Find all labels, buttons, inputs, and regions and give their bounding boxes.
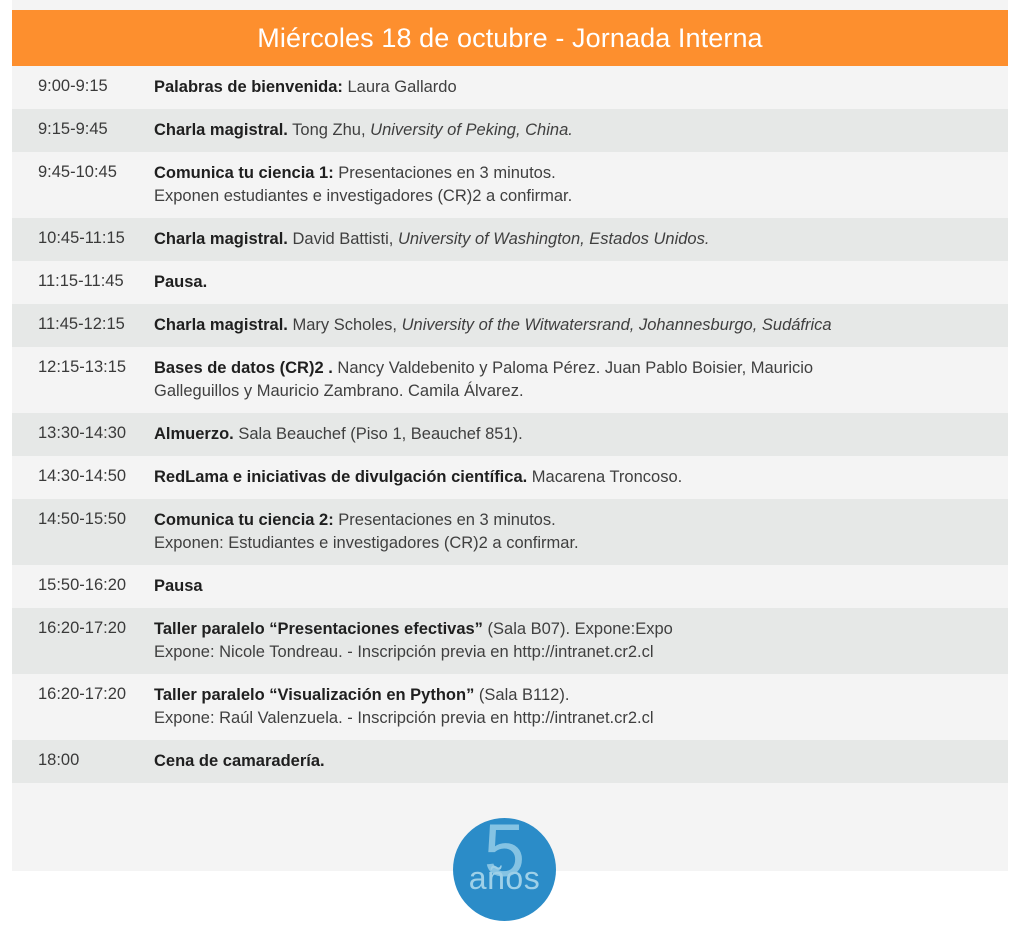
schedule-row: 14:50-15:50Comunica tu ciencia 2: Presen… bbox=[12, 499, 1008, 565]
schedule-row: 9:45-10:45Comunica tu ciencia 1: Present… bbox=[12, 152, 1008, 218]
row-text-bold: Almuerzo. bbox=[154, 425, 234, 443]
row-time: 12:15-13:15 bbox=[12, 357, 154, 378]
row-time: 11:45-12:15 bbox=[12, 314, 154, 335]
schedule-row: 18:00Cena de camaradería. bbox=[12, 740, 1008, 783]
row-description: Palabras de bienvenida: Laura Gallardo bbox=[154, 76, 1000, 99]
row-text-bold: Cena de camaradería. bbox=[154, 752, 325, 770]
row-text: Expone: Nicole Tondreau. - Inscripción p… bbox=[154, 643, 654, 661]
row-description-line: Charla magistral. Mary Scholes, Universi… bbox=[154, 314, 1000, 337]
row-description-line: RedLama e iniciativas de divulgación cie… bbox=[154, 466, 1000, 489]
row-text: Macarena Troncoso. bbox=[527, 468, 682, 486]
row-time: 13:30-14:30 bbox=[12, 423, 154, 444]
row-description: Charla magistral. Mary Scholes, Universi… bbox=[154, 314, 1000, 337]
schedule-rows: 9:00-9:15Palabras de bienvenida: Laura G… bbox=[12, 66, 1008, 783]
logo-label: años bbox=[453, 862, 556, 894]
schedule-row: 13:30-14:30Almuerzo. Sala Beauchef (Piso… bbox=[12, 413, 1008, 456]
schedule-row: 9:15-9:45Charla magistral. Tong Zhu, Uni… bbox=[12, 109, 1008, 152]
row-description-line: Exponen estudiantes e investigadores (CR… bbox=[154, 185, 1000, 208]
row-text: Sala Beauchef (Piso 1, Beauchef 851). bbox=[234, 425, 523, 443]
schedule-row: 11:45-12:15Charla magistral. Mary Schole… bbox=[12, 304, 1008, 347]
schedule-row: 14:30-14:50RedLama e iniciativas de divu… bbox=[12, 456, 1008, 499]
row-text: Expone: Raúl Valenzuela. - Inscripción p… bbox=[154, 709, 654, 727]
row-text: (Sala B07). Expone:Expo bbox=[483, 620, 673, 638]
row-description: Taller paralelo “Presentaciones efectiva… bbox=[154, 618, 1000, 664]
row-description: Comunica tu ciencia 2: Presentaciones en… bbox=[154, 509, 1000, 555]
row-description-line: Taller paralelo “Visualización en Python… bbox=[154, 684, 1000, 707]
row-text: Presentaciones en 3 minutos. bbox=[334, 164, 556, 182]
row-description: Pausa bbox=[154, 575, 1000, 598]
row-description: Charla magistral. Tong Zhu, University o… bbox=[154, 119, 1000, 142]
row-time: 15:50-16:20 bbox=[12, 575, 154, 596]
row-time: 9:00-9:15 bbox=[12, 76, 154, 97]
row-time: 10:45-11:15 bbox=[12, 228, 154, 249]
row-text-bold: Comunica tu ciencia 2: bbox=[154, 511, 334, 529]
row-text-bold: Taller paralelo “Presentaciones efectiva… bbox=[154, 620, 483, 638]
schedule-header: Miércoles 18 de octubre - Jornada Intern… bbox=[12, 10, 1008, 66]
row-description-line: Cena de camaradería. bbox=[154, 750, 1000, 773]
row-text-bold: RedLama e iniciativas de divulgación cie… bbox=[154, 468, 527, 486]
row-text: Galleguillos y Mauricio Zambrano. Camila… bbox=[154, 382, 524, 400]
schedule-row: 15:50-16:20Pausa bbox=[12, 565, 1008, 608]
row-description: RedLama e iniciativas de divulgación cie… bbox=[154, 466, 1000, 489]
row-description-line: Expone: Raúl Valenzuela. - Inscripción p… bbox=[154, 707, 1000, 730]
row-time: 11:15-11:45 bbox=[12, 271, 154, 292]
row-description: Charla magistral. David Battisti, Univer… bbox=[154, 228, 1000, 251]
row-text-bold: Comunica tu ciencia 1: bbox=[154, 164, 334, 182]
row-text-bold: Charla magistral. bbox=[154, 316, 288, 334]
row-time: 16:20-17:20 bbox=[12, 618, 154, 639]
row-text-bold: Charla magistral. bbox=[154, 230, 288, 248]
row-description-line: Charla magistral. Tong Zhu, University o… bbox=[154, 119, 1000, 142]
row-time: 16:20-17:20 bbox=[12, 684, 154, 705]
row-text: Mary Scholes, bbox=[288, 316, 402, 334]
row-description-line: Expone: Nicole Tondreau. - Inscripción p… bbox=[154, 641, 1000, 664]
row-text-bold: Charla magistral. bbox=[154, 121, 288, 139]
row-description-line: Charla magistral. David Battisti, Univer… bbox=[154, 228, 1000, 251]
row-text-bold: Palabras de bienvenida: bbox=[154, 78, 343, 96]
row-text-bold: Bases de datos (CR)2 . bbox=[154, 359, 333, 377]
row-text-bold: Taller paralelo “Visualización en Python… bbox=[154, 686, 474, 704]
row-time: 18:00 bbox=[12, 750, 154, 771]
row-text-italic: University of the Witwatersrand, Johanne… bbox=[402, 316, 832, 334]
schedule-row: 16:20-17:20Taller paralelo “Visualizació… bbox=[12, 674, 1008, 740]
row-text-italic: University of Washington, Estados Unidos… bbox=[398, 230, 710, 248]
row-text: Exponen estudiantes e investigadores (CR… bbox=[154, 187, 572, 205]
row-description: Almuerzo. Sala Beauchef (Piso 1, Beauche… bbox=[154, 423, 1000, 446]
page-title: Miércoles 18 de octubre - Jornada Intern… bbox=[257, 23, 762, 54]
row-description-line: Exponen: Estudiantes e investigadores (C… bbox=[154, 532, 1000, 555]
row-time: 9:45-10:45 bbox=[12, 162, 154, 183]
row-time: 14:30-14:50 bbox=[12, 466, 154, 487]
schedule-page: Miércoles 18 de octubre - Jornada Intern… bbox=[0, 0, 1019, 932]
row-description-line: Almuerzo. Sala Beauchef (Piso 1, Beauche… bbox=[154, 423, 1000, 446]
row-description-line: Comunica tu ciencia 1: Presentaciones en… bbox=[154, 162, 1000, 185]
row-description-line: Pausa bbox=[154, 575, 1000, 598]
row-description: Pausa. bbox=[154, 271, 1000, 294]
row-description-line: Taller paralelo “Presentaciones efectiva… bbox=[154, 618, 1000, 641]
row-description-line: Pausa. bbox=[154, 271, 1000, 294]
schedule-row: 11:15-11:45Pausa. bbox=[12, 261, 1008, 304]
schedule-row: 16:20-17:20Taller paralelo “Presentacion… bbox=[12, 608, 1008, 674]
row-description: Cena de camaradería. bbox=[154, 750, 1000, 773]
row-time: 14:50-15:50 bbox=[12, 509, 154, 530]
row-text: Tong Zhu, bbox=[288, 121, 370, 139]
row-text: Exponen: Estudiantes e investigadores (C… bbox=[154, 534, 579, 552]
row-description-line: Galleguillos y Mauricio Zambrano. Camila… bbox=[154, 380, 1000, 403]
row-description: Taller paralelo “Visualización en Python… bbox=[154, 684, 1000, 730]
row-text: Laura Gallardo bbox=[343, 78, 457, 96]
schedule-row: 9:00-9:15Palabras de bienvenida: Laura G… bbox=[12, 66, 1008, 109]
row-text-bold: Pausa. bbox=[154, 273, 207, 291]
row-text: Nancy Valdebenito y Paloma Pérez. Juan P… bbox=[333, 359, 813, 377]
schedule-row: 12:15-13:15Bases de datos (CR)2 . Nancy … bbox=[12, 347, 1008, 413]
row-time: 9:15-9:45 bbox=[12, 119, 154, 140]
row-description-line: Bases de datos (CR)2 . Nancy Valdebenito… bbox=[154, 357, 1000, 380]
row-description: Bases de datos (CR)2 . Nancy Valdebenito… bbox=[154, 357, 1000, 403]
row-text: Presentaciones en 3 minutos. bbox=[334, 511, 556, 529]
anniversary-logo: 5 años bbox=[453, 818, 556, 921]
row-description-line: Palabras de bienvenida: Laura Gallardo bbox=[154, 76, 1000, 99]
row-text-italic: University of Peking, China. bbox=[370, 121, 573, 139]
row-text: (Sala B112). bbox=[474, 686, 569, 704]
row-text: David Battisti, bbox=[288, 230, 398, 248]
schedule-row: 10:45-11:15Charla magistral. David Batti… bbox=[12, 218, 1008, 261]
row-description: Comunica tu ciencia 1: Presentaciones en… bbox=[154, 162, 1000, 208]
row-text-bold: Pausa bbox=[154, 577, 203, 595]
row-description-line: Comunica tu ciencia 2: Presentaciones en… bbox=[154, 509, 1000, 532]
